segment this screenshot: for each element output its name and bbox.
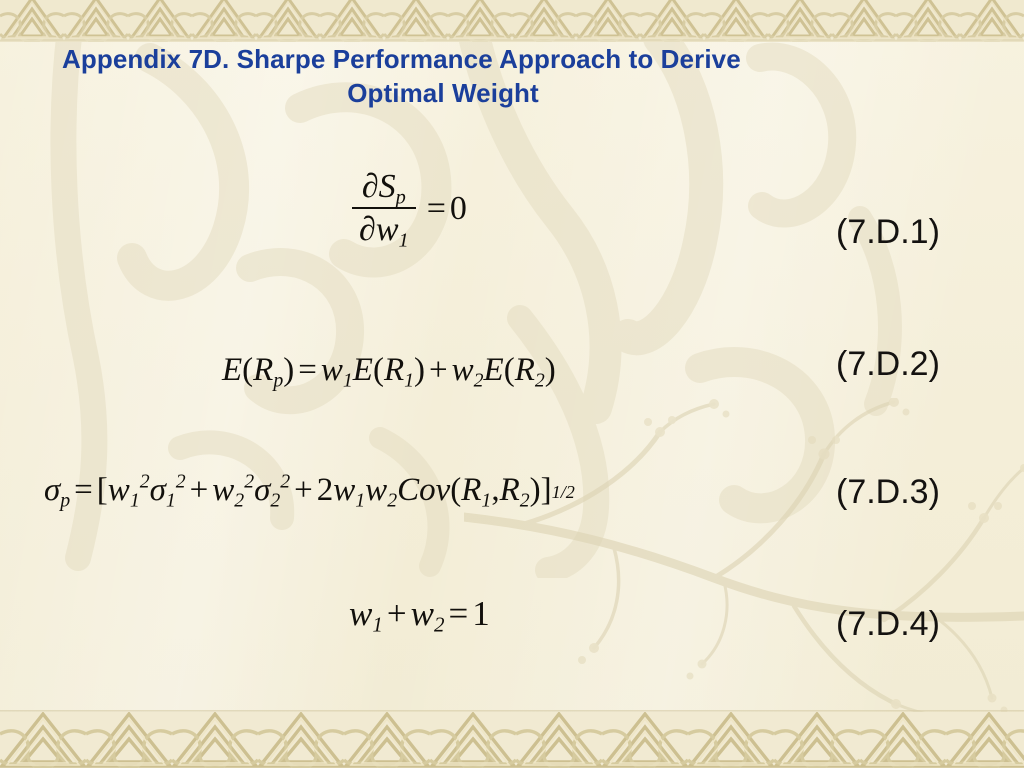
equation-2: E(Rp)=w1E(R1)+w2E(R2) <box>222 352 556 389</box>
rbracket: ] <box>541 472 552 508</box>
r-symbol: R <box>461 472 481 508</box>
slide: Appendix 7D. Sharpe Performance Approach… <box>0 0 1024 768</box>
w-symbol: w <box>376 211 399 248</box>
coefficient-two: 2 <box>317 472 334 508</box>
r-subscript-1: 1 <box>481 489 491 511</box>
r-symbol: R <box>384 352 404 388</box>
r-subscript-p: p <box>273 369 283 391</box>
w-subscript-2: 2 <box>234 489 244 511</box>
w-symbol: w <box>333 472 355 508</box>
equation-1-tail: =0 <box>423 190 467 228</box>
w-subscript-2: 2 <box>474 369 484 391</box>
equals-sign: = <box>423 190 450 227</box>
equals-sign: = <box>444 594 472 633</box>
sigma-subscript-p: p <box>60 489 70 511</box>
bottom-border-separator <box>0 710 1024 713</box>
sigma-exponent-2: 2 <box>176 471 186 493</box>
equation-4: w1+w2=1 <box>349 594 490 634</box>
w-subscript-1: 1 <box>372 613 383 637</box>
plus-sign: + <box>290 472 317 508</box>
partial-symbol: ∂ <box>359 211 376 248</box>
equation-1: ∂Sp ∂w1 =0 <box>352 168 467 249</box>
sigma-subscript-1: 1 <box>166 489 176 511</box>
w-subscript: 1 <box>399 230 409 252</box>
e-symbol: E <box>353 352 373 388</box>
equation-number-3: (7.D.3) <box>836 473 940 512</box>
r-symbol: R <box>500 472 520 508</box>
plus-sign: + <box>186 472 213 508</box>
w-subscript-2: 2 <box>434 613 445 637</box>
s-subscript: p <box>396 187 406 209</box>
lparen: ( <box>373 352 384 388</box>
e-symbol: E <box>484 352 504 388</box>
equation-number-1: (7.D.1) <box>836 213 940 252</box>
rparen: ) <box>283 352 294 388</box>
lbracket: [ <box>97 472 108 508</box>
zero-value: 0 <box>450 190 467 227</box>
sigma-subscript-2: 2 <box>270 489 280 511</box>
rparen: ) <box>545 352 556 388</box>
r-subscript-2: 2 <box>520 489 530 511</box>
lparen: ( <box>242 352 253 388</box>
lparen: ( <box>504 352 515 388</box>
w-subscript-2: 2 <box>387 489 397 511</box>
equation-number-4: (7.D.4) <box>836 605 940 644</box>
w-exponent-2: 2 <box>140 471 150 493</box>
partial-symbol: ∂ <box>362 168 379 205</box>
w-symbol: w <box>365 472 387 508</box>
w-symbol: w <box>411 594 434 633</box>
w-subscript-1: 1 <box>130 489 140 511</box>
equation-3: σp=[w12σ12+w22σ22+2w1w2Cov(R1,R2)]1/2 <box>44 472 575 509</box>
s-symbol: S <box>379 168 396 205</box>
rparen: ) <box>414 352 425 388</box>
equals-sign: = <box>70 472 97 508</box>
title-line-2: Optimal Weight <box>62 76 762 110</box>
comma: , <box>491 472 499 508</box>
w-symbol: w <box>108 472 130 508</box>
sigma-symbol: σ <box>254 472 270 508</box>
w-symbol: w <box>212 472 234 508</box>
w-symbol: w <box>452 352 474 388</box>
r-subscript-1: 1 <box>404 369 414 391</box>
page-title: Appendix 7D. Sharpe Performance Approach… <box>62 42 762 110</box>
plus-sign: + <box>383 594 411 633</box>
r-subscript-2: 2 <box>535 369 545 391</box>
one-value: 1 <box>472 594 490 633</box>
w-subscript-1: 1 <box>343 369 353 391</box>
equation-number-2: (7.D.2) <box>836 345 940 384</box>
w-symbol: w <box>349 594 372 633</box>
equals-sign: = <box>294 352 321 388</box>
w-symbol: w <box>321 352 343 388</box>
equation-1-denominator: ∂w1 <box>352 209 416 249</box>
sigma-symbol: σ <box>44 472 60 508</box>
rparen: ) <box>530 472 541 508</box>
equation-1-numerator: ∂Sp <box>355 168 413 207</box>
lparen: ( <box>450 472 461 508</box>
equation-1-fraction: ∂Sp ∂w1 <box>352 168 416 249</box>
r-symbol: R <box>253 352 273 388</box>
title-line-1: Appendix 7D. Sharpe Performance Approach… <box>62 42 762 76</box>
r-symbol: R <box>515 352 535 388</box>
w-subscript-1: 1 <box>355 489 365 511</box>
e-symbol: E <box>222 352 242 388</box>
w-exponent-2: 2 <box>244 471 254 493</box>
sigma-exponent-2: 2 <box>280 471 290 493</box>
plus-sign: + <box>425 352 452 388</box>
sigma-symbol: σ <box>150 472 166 508</box>
cov-function: Cov <box>397 472 450 508</box>
